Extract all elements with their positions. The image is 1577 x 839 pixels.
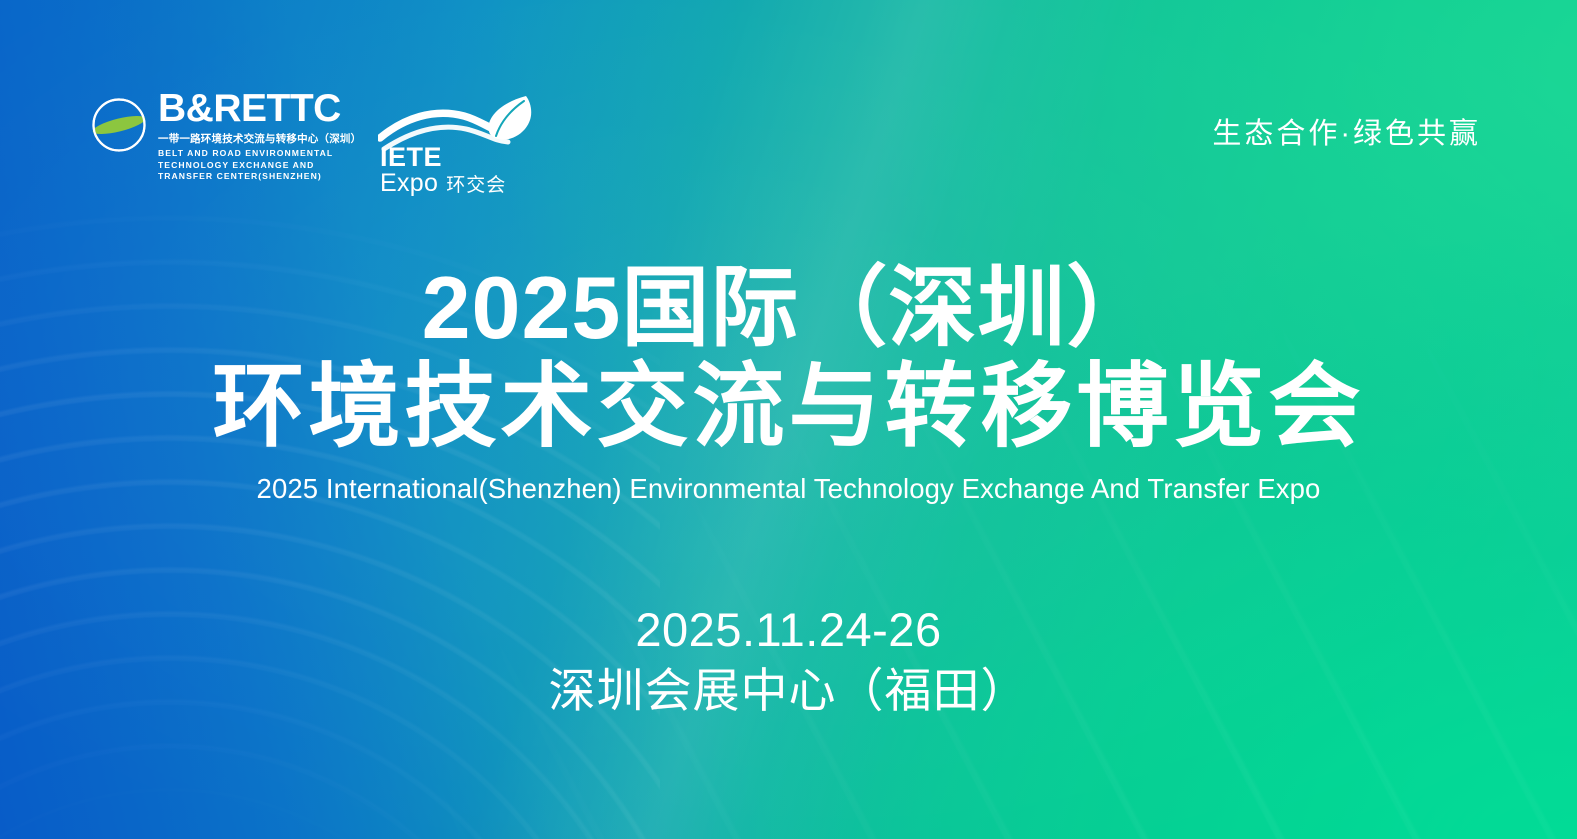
- logo-divider: [360, 94, 361, 172]
- iete-acronym: IETE: [380, 144, 442, 171]
- iete-chinese-short: 环交会: [446, 176, 506, 195]
- title-english: 2025 International(Shenzhen) Environment…: [0, 473, 1577, 505]
- brettc-logo: B&RETTC 一带一路环境技术交流与转移中心（深圳） BELT AND ROA…: [88, 90, 361, 183]
- iete-expo-word: Expo: [380, 171, 438, 196]
- brettc-english-name: BELT AND ROAD ENVIRONMENTAL TECHNOLOGY E…: [158, 148, 358, 183]
- brettc-wordmark: B&RETTC: [158, 90, 361, 128]
- globe-icon: [88, 94, 150, 156]
- title-line-1: 2025国际（深圳）: [0, 262, 1577, 354]
- event-banner: B&RETTC 一带一路环境技术交流与转移中心（深圳） BELT AND ROA…: [0, 0, 1577, 839]
- title-line-2: 环境技术交流与转移博览会: [0, 356, 1577, 459]
- event-venue: 深圳会展中心（福田）: [0, 663, 1577, 719]
- event-date: 2025.11.24-26: [0, 602, 1577, 657]
- header-slogan: 生态合作·绿色共赢: [1212, 110, 1481, 152]
- brettc-chinese-name: 一带一路环境技术交流与转移中心（深圳）: [158, 131, 361, 146]
- banner-header: B&RETTC 一带一路环境技术交流与转移中心（深圳） BELT AND ROA…: [0, 78, 1577, 188]
- event-info-block: 2025.11.24-26 深圳会展中心（福田）: [0, 602, 1577, 720]
- iete-expo-logo: IETE Expo 环交会: [378, 92, 538, 188]
- event-title-block: 2025国际（深圳） 环境技术交流与转移博览会 2025 Internation…: [0, 262, 1577, 505]
